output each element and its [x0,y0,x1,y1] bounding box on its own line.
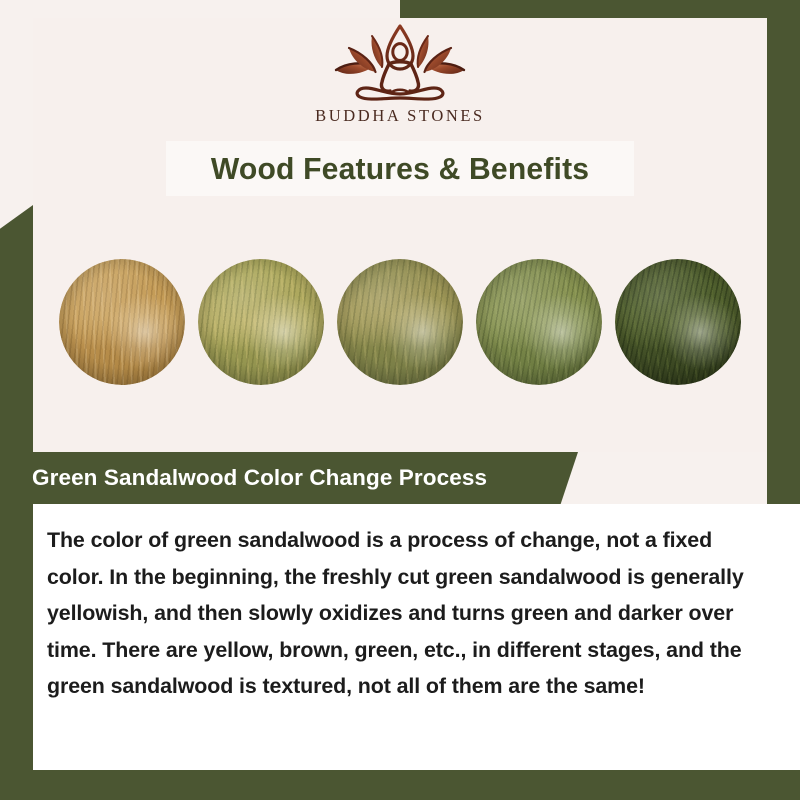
bead-shading [59,259,185,385]
brand-wordmark: BUDDHA STONES [315,106,485,126]
bead-label-4: Stage 4 - Green [476,259,477,260]
page-title: Wood Features & Benefits [211,151,589,187]
wood-color-stage-row: Stage 1 - Yellowish Tan Stage 2 - Yellow… [33,252,767,392]
wood-bead-stage-2: Stage 2 - Yellow Green [198,259,324,385]
wood-bead-stage-5: Stage 5 - Dark Green [615,259,741,385]
bead-shading [615,259,741,385]
body-paragraph: The color of green sandalwood is a proce… [47,522,759,705]
frame-bottom-bar [0,770,800,800]
bead-shading [198,259,324,385]
bead-label-3: Stage 3 - Olive [337,259,338,260]
bead-shading [476,259,602,385]
section-heading-banner: Green Sandalwood Color Change Process [0,452,578,504]
bead-label-2: Stage 2 - Yellow Green [198,259,199,260]
poster-canvas: BUDDHA STONES Wood Features & Benefits S… [0,0,800,800]
bead-shading [337,259,463,385]
wood-bead-stage-3: Stage 3 - Olive [337,259,463,385]
wood-bead-stage-4: Stage 4 - Green [476,259,602,385]
page-title-plate: Wood Features & Benefits [166,141,634,196]
section-heading: Green Sandalwood Color Change Process [0,465,487,491]
brand-logo-block: BUDDHA STONES [0,0,800,140]
bead-label-5: Stage 5 - Dark Green [615,259,616,260]
lotus-meditation-figure-icon [316,22,484,102]
bead-label-1: Stage 1 - Yellowish Tan [59,259,60,260]
wood-bead-stage-1: Stage 1 - Yellowish Tan [59,259,185,385]
